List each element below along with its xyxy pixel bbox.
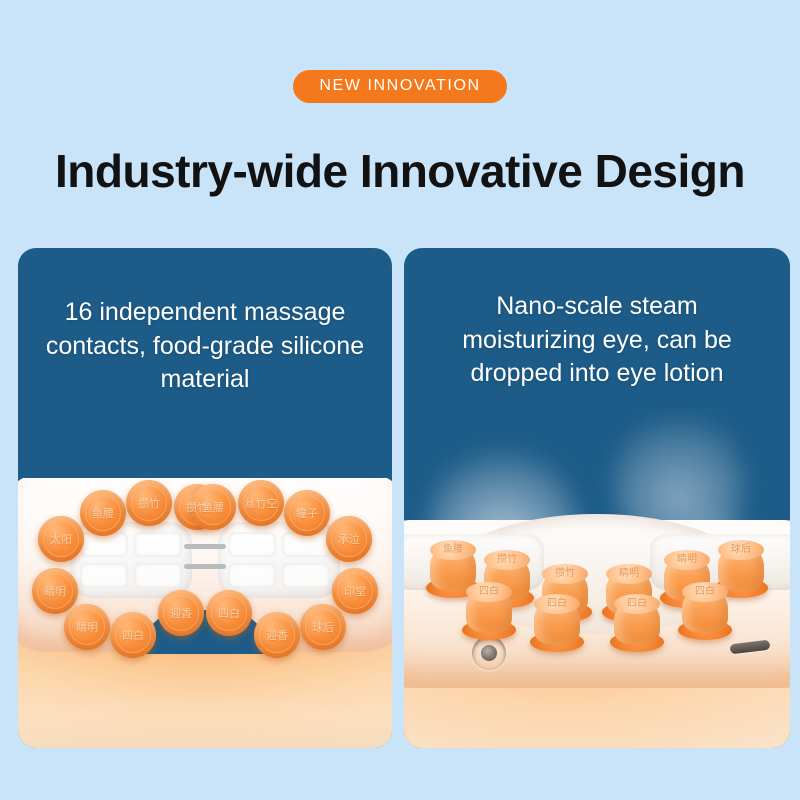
massage-node: 四白: [206, 590, 252, 636]
feature-cards: 16 independent massage contacts, food-gr…: [18, 248, 790, 748]
feature-card-massage-contacts: 16 independent massage contacts, food-gr…: [18, 248, 392, 748]
eye-massager-body: 太阳 鱼腰 攒竹 攒竹 鱼腰 丝竹空 瞳子 承泣 睛明 睛明 四白 迎香 四白 …: [18, 478, 392, 652]
steam-port-icon: [472, 636, 506, 670]
massage-node: 丝竹空: [238, 480, 284, 526]
massage-node: 球后: [300, 604, 346, 650]
massage-node: 睛明: [32, 568, 78, 614]
massage-node: 迎香: [158, 590, 204, 636]
product-photo-front-face: 太阳 鱼腰 攒竹 攒竹 鱼腰 丝竹空 瞳子 承泣 睛明 睛明 四白 迎香 四白 …: [18, 478, 392, 748]
massage-node: 印堂: [332, 568, 378, 614]
lens-bar-right-2: [192, 564, 226, 569]
massage-node: 睛明: [64, 604, 110, 650]
lens-bar-right-1: [192, 544, 226, 549]
card-text-nano-steam: Nano-scale steam moisturizing eye, can b…: [404, 248, 790, 391]
massage-node: 承泣: [326, 516, 372, 562]
massage-node-tall: 四白: [530, 596, 584, 652]
page-title: Industry-wide Innovative Design: [0, 144, 800, 198]
new-innovation-badge: NEW INNOVATION: [293, 70, 506, 103]
vent-slot-icon: [730, 640, 771, 655]
eye-lens-right: [218, 522, 340, 598]
feature-card-nano-steam: Nano-scale steam moisturizing eye, can b…: [404, 248, 790, 748]
eye-lens-left: [70, 522, 192, 598]
massage-node: 太阳: [38, 516, 84, 562]
massage-node: 瞳子: [284, 490, 330, 536]
lens-grid-right: [228, 532, 330, 588]
product-photo-steam: 鱼腰 攒竹 攒竹 睛明 睛明 球后 四白: [404, 408, 790, 748]
massage-node-tall: 四白: [610, 596, 664, 652]
massage-node-tall: 四白: [462, 582, 516, 640]
massage-node: 四白: [110, 612, 156, 658]
massage-node: 攒竹: [126, 480, 172, 526]
massage-node: 迎香: [254, 612, 300, 658]
card-text-massage-contacts: 16 independent massage contacts, food-gr…: [18, 248, 392, 397]
lens-grid-left: [80, 532, 182, 588]
badge-row: NEW INNOVATION: [0, 70, 800, 103]
massage-node-tall: 四白: [678, 582, 732, 640]
promo-page: NEW INNOVATION Industry-wide Innovative …: [0, 0, 800, 800]
massage-node: 鱼腰: [80, 490, 126, 536]
